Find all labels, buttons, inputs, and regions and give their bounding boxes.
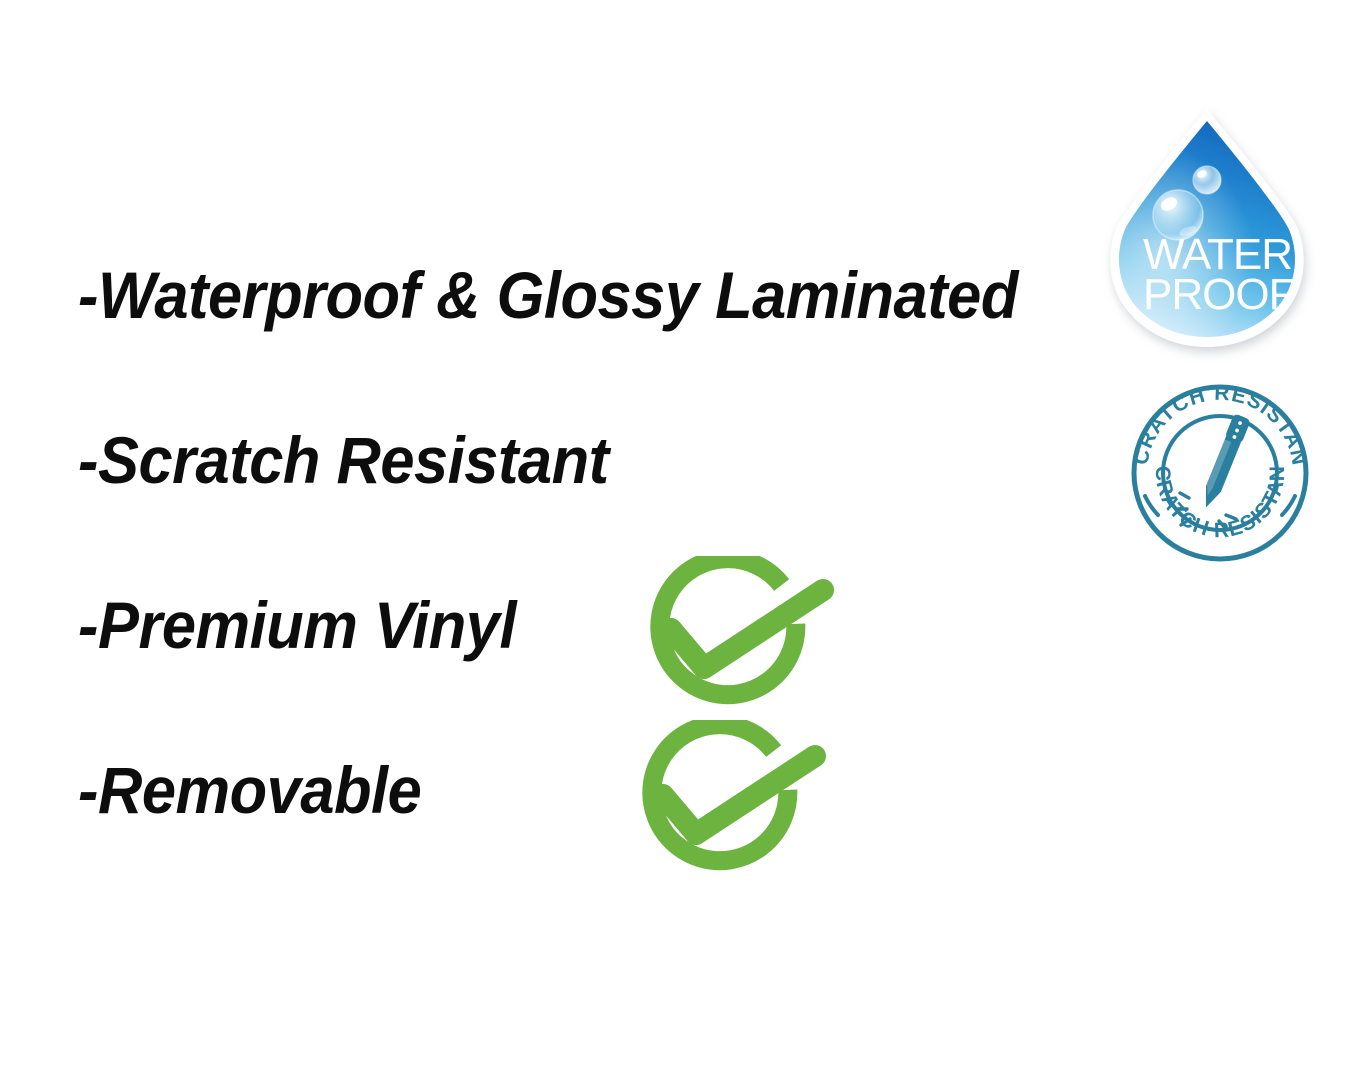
check-mark-removable xyxy=(632,720,832,883)
knife-icon xyxy=(1198,413,1251,511)
feature-item-waterproof-glossy-laminated: -Waterproof & Glossy Laminated xyxy=(78,262,1018,328)
waterproof-badge: WATER PROOF xyxy=(1095,105,1325,365)
check-mark-premium-vinyl xyxy=(640,556,840,716)
water-bubble-small-icon xyxy=(1193,166,1221,194)
waterproof-label-line2: PROOF xyxy=(1143,270,1295,319)
green-check-circle-icon xyxy=(645,720,815,867)
green-check-circle-icon xyxy=(653,556,823,701)
seal-top-text: SCRATCH RESISTANT xyxy=(1125,378,1311,468)
product-feature-graphic: -Waterproof & Glossy Laminated -Scratch … xyxy=(0,0,1359,1080)
feature-item-scratch-resistant: -Scratch Resistant xyxy=(78,427,609,493)
feature-item-premium-vinyl: -Premium Vinyl xyxy=(78,592,516,658)
feature-item-removable: -Removable xyxy=(78,757,421,823)
scratch-resistant-badge: SCRATCH RESISTANT SCRATCH RESISTANT xyxy=(1125,378,1315,568)
